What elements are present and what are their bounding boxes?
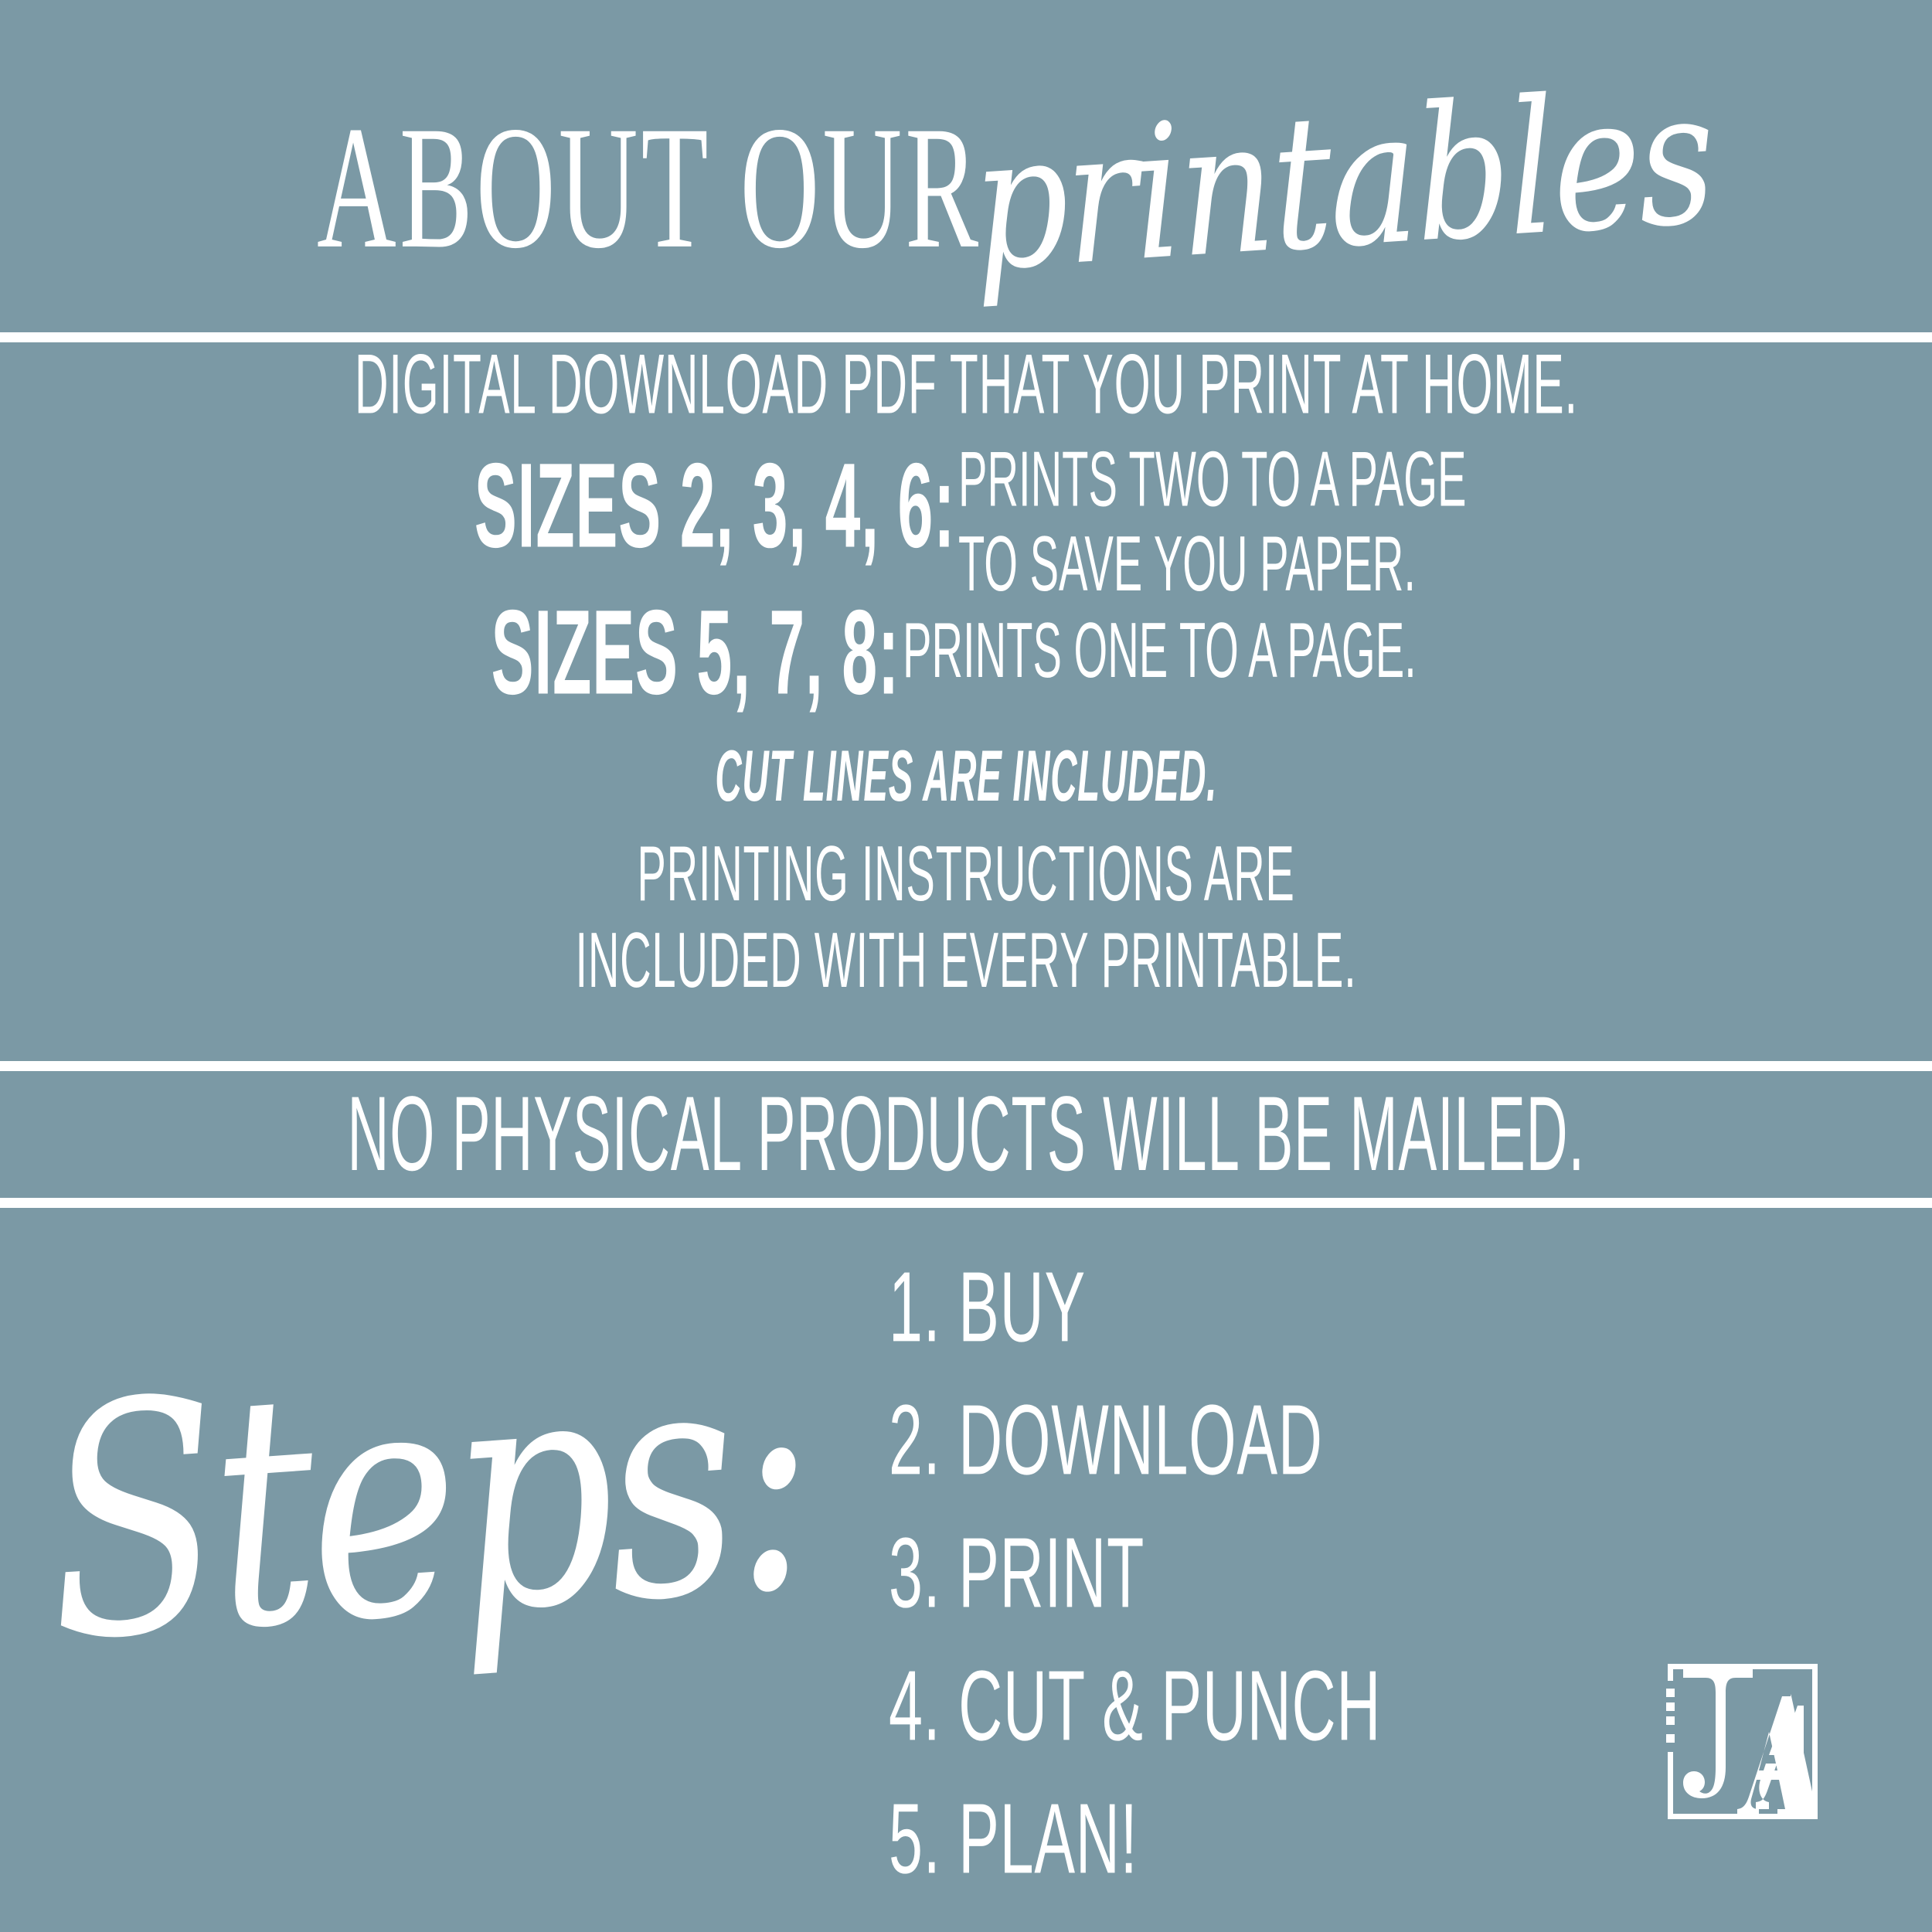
instructions-line-1: PRINTING INSTRUCTIONS ARE xyxy=(576,832,1357,918)
size-row-a: SIZES 2, 3, 4, 6: PRINTS TWO TO A PAGE T… xyxy=(0,437,1932,566)
page-title-script: printables xyxy=(969,65,1716,298)
printables-info-graphic: ABOUT OUR printables DIGITAL DOWNLOAD PD… xyxy=(0,0,1932,1932)
notice-text: NO PHYSICAL PRODUCTS WILL BE MAILED. xyxy=(347,1073,1585,1195)
page-title: ABOUT OUR printables xyxy=(0,116,1932,332)
info-section: DIGITAL DOWNLOAD PDF THAT YOU PRINT AT H… xyxy=(0,352,1932,984)
step-item-2: 2. DOWNLOAD xyxy=(889,1391,1476,1491)
intro-line-wrap: DIGITAL DOWNLOAD PDF THAT YOU PRINT AT H… xyxy=(0,352,1932,417)
size-row-a-desc: PRINTS TWO TO A PAGE TO SAVE YOU PAPER. xyxy=(958,437,1466,606)
steps-heading: Steps: xyxy=(26,1167,877,1821)
cut-lines-note: CUT LINES ARE INCLUDED. xyxy=(715,741,1217,814)
instructions-wrap: PRINTING INSTRUCTIONS ARE INCLUDED WITH … xyxy=(0,851,1932,984)
intro-line: DIGITAL DOWNLOAD PDF THAT YOU PRINT AT H… xyxy=(354,342,1577,426)
step-item-5: 5. PLAN! xyxy=(889,1790,1476,1889)
size-row-a-desc-line1: PRINTS TWO TO A PAGE xyxy=(958,437,1466,522)
size-row-b-desc-line1: PRINTS ONE TO A PAGE. xyxy=(903,608,1417,693)
brand-logo xyxy=(1662,1658,1824,1832)
size-row-b: SIZES 5, 7, 8: PRINTS ONE TO A PAGE. xyxy=(0,583,1932,689)
cut-lines-wrap: CUT LINES ARE INCLUDED. xyxy=(0,749,1932,804)
instructions-note: PRINTING INSTRUCTIONS ARE INCLUDED WITH … xyxy=(576,832,1357,1004)
size-row-a-label: SIZES 2, 3, 4, 6: xyxy=(474,437,955,576)
step-item-3: 3. PRINT xyxy=(889,1524,1476,1624)
size-row-b-label: SIZES 5, 7, 8: xyxy=(491,583,900,723)
instructions-line-2: INCLUDED WITH EVERY PRINTABLE. xyxy=(576,917,1357,1004)
steps-list: 1. BUY 2. DOWNLOAD 3. PRINT 4. CUT & PUN… xyxy=(889,1267,1662,1932)
step-item-1: 1. BUY xyxy=(889,1258,1476,1358)
divider-band-top xyxy=(0,1061,1932,1071)
step-item-4: 4. CUT & PUNCH xyxy=(889,1657,1476,1757)
notice-band: NO PHYSICAL PRODUCTS WILL BE MAILED. xyxy=(0,1071,1932,1198)
ja-monogram-icon xyxy=(1662,1658,1824,1832)
size-row-b-desc: PRINTS ONE TO A PAGE. xyxy=(903,583,1417,692)
page-title-serif: ABOUT OUR xyxy=(317,99,981,275)
